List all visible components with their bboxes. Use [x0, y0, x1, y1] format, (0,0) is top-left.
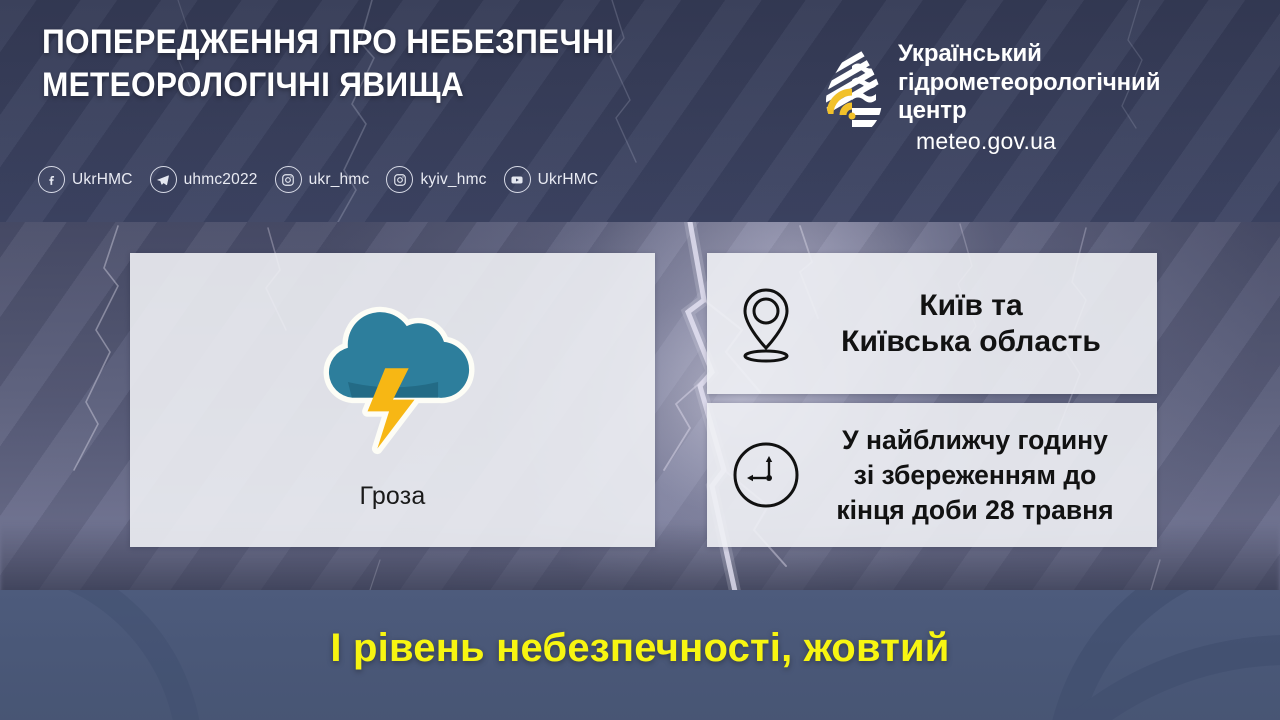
time-text: У найближчу годину зі збереженням до кін…: [801, 423, 1157, 528]
social-links: UkrHMC uhmc2022 ukr_hmc kyiv_hmc: [38, 166, 598, 193]
instagram-icon: [275, 166, 302, 193]
hazard-panel: Гроза: [130, 253, 655, 547]
time-panel: У найближчу годину зі збереженням до кін…: [707, 403, 1157, 547]
title-line-1: ПОПЕРЕДЖЕННЯ ПРО НЕБЕЗПЕЧНІ: [42, 21, 767, 64]
organization-logo: Український гідрометеорологічний центр m…: [812, 40, 1160, 156]
instagram-icon: [386, 166, 413, 193]
danger-level-text: І рівень небезпечності, жовтий: [0, 590, 1280, 720]
page-title: ПОПЕРЕДЖЕННЯ ПРО НЕБЕЗПЕЧНІ МЕТЕОРОЛОГІЧ…: [42, 21, 767, 107]
social-link-telegram[interactable]: uhmc2022: [150, 166, 258, 193]
youtube-icon: [504, 166, 531, 193]
social-handle: ukr_hmc: [309, 171, 370, 189]
water-droplet-logo-icon: [812, 40, 884, 140]
social-handle: UkrHMC: [538, 171, 599, 189]
location-line-2: Київська область: [799, 324, 1143, 360]
logo-website: meteo.gov.ua: [898, 126, 1160, 156]
warning-infographic: ПОПЕРЕДЖЕННЯ ПРО НЕБЕЗПЕЧНІ МЕТЕОРОЛОГІЧ…: [0, 0, 1280, 720]
logo-line-3: центр: [898, 97, 1160, 126]
social-handle: UkrHMC: [72, 171, 133, 189]
social-link-youtube[interactable]: UkrHMC: [504, 166, 599, 193]
social-link-instagram-ukr[interactable]: ukr_hmc: [275, 166, 370, 193]
danger-level-banner: І рівень небезпечності, жовтий: [0, 590, 1280, 720]
time-line-1: У найближчу годину: [801, 423, 1149, 458]
logo-line-2: гідрометеорологічний: [898, 69, 1160, 98]
time-line-3: кінця доби 28 травня: [801, 493, 1149, 528]
clock-icon: [731, 440, 801, 510]
header-band: ПОПЕРЕДЖЕННЯ ПРО НЕБЕЗПЕЧНІ МЕТЕОРОЛОГІЧ…: [0, 0, 1280, 222]
telegram-icon: [150, 166, 177, 193]
social-handle: uhmc2022: [184, 171, 258, 189]
logo-line-1: Український: [898, 40, 1160, 69]
facebook-icon: [38, 166, 65, 193]
hazard-label: Гроза: [359, 482, 425, 511]
location-text: Київ та Київська область: [799, 288, 1157, 360]
time-line-2: зі збереженням до: [801, 458, 1149, 493]
location-line-1: Київ та: [799, 288, 1143, 324]
social-link-facebook[interactable]: UkrHMC: [38, 166, 133, 193]
thunderstorm-cloud-icon: [295, 284, 491, 480]
location-panel: Київ та Київська область: [707, 253, 1157, 394]
social-link-instagram-kyiv[interactable]: kyiv_hmc: [386, 166, 486, 193]
social-handle: kyiv_hmc: [420, 171, 486, 189]
title-line-2: МЕТЕОРОЛОГІЧНІ ЯВИЩА: [42, 64, 767, 107]
map-pin-icon: [733, 285, 799, 363]
